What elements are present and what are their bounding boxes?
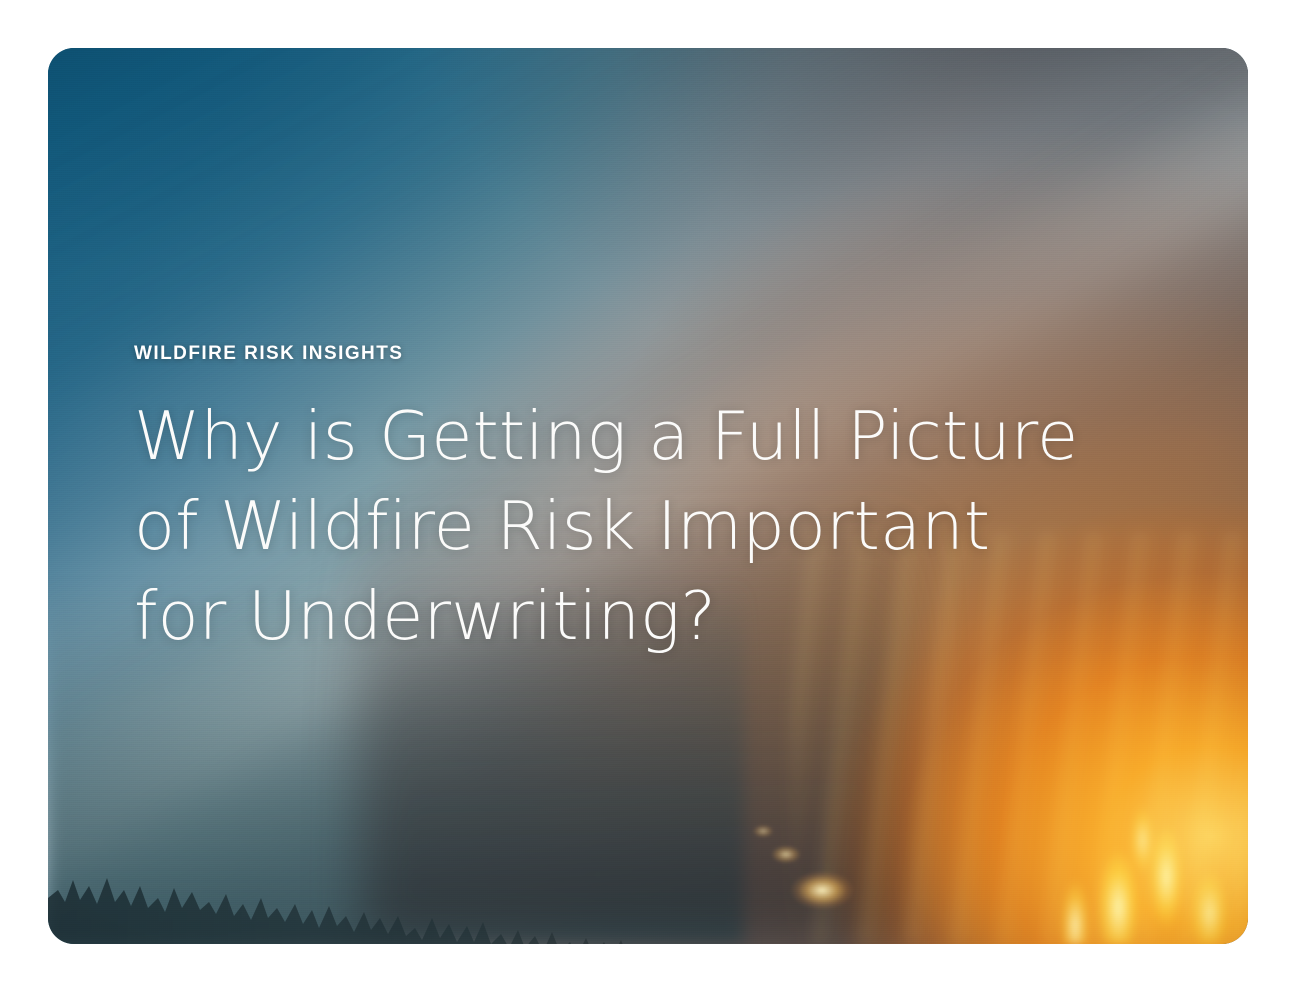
hero-headline: Why is Getting a Full Picture of Wildfir… [134,391,1134,661]
hero-headline-line-3: for Underwriting? [134,571,1134,661]
hero-headline-line-1: Why is Getting a Full Picture [134,391,1134,481]
hero-headline-line-2: of Wildfire Risk Important [134,481,1134,571]
hero-eyebrow: WILDFIRE RISK INSIGHTS [134,344,1134,363]
wildfire-hero-card: WILDFIRE RISK INSIGHTS Why is Getting a … [48,48,1248,944]
hero-text-block: WILDFIRE RISK INSIGHTS Why is Getting a … [134,344,1134,661]
page-root: WILDFIRE RISK INSIGHTS Why is Getting a … [0,0,1296,996]
conifer-treeline-silhouette [48,824,1248,944]
